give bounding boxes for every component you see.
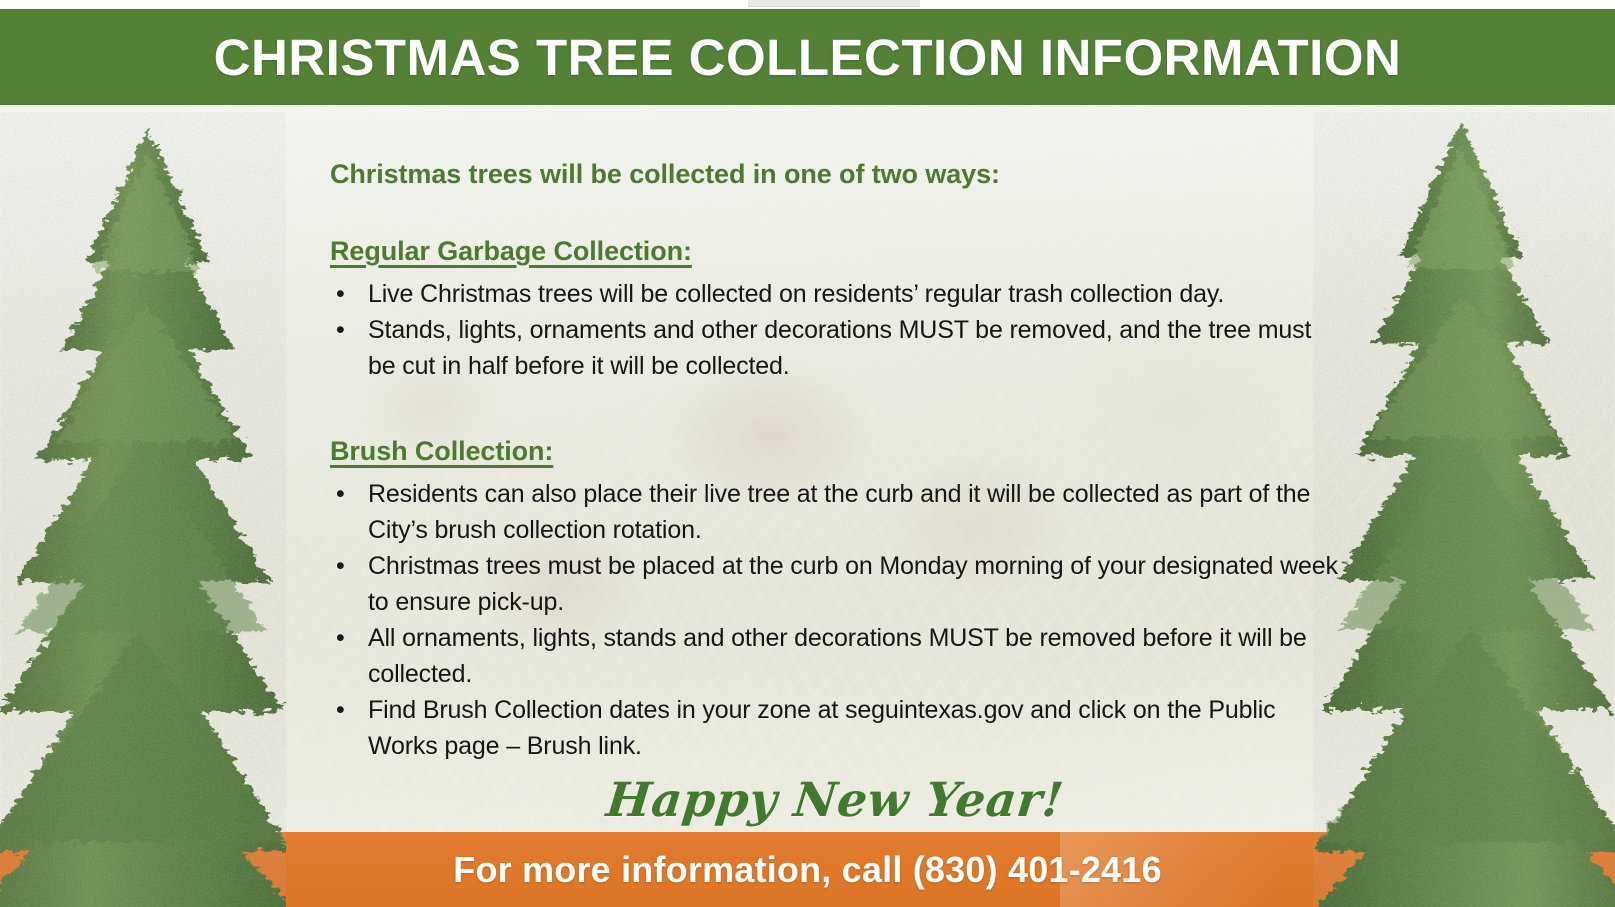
bullet-list-brush-collection: • Residents can also place their live tr… (330, 476, 1340, 764)
bullet-dot-icon: • (336, 620, 345, 656)
list-item: • Stands, lights, ornaments and other de… (330, 312, 1340, 384)
list-item: • All ornaments, lights, stands and othe… (330, 620, 1340, 692)
list-item: • Christmas trees must be placed at the … (330, 548, 1340, 620)
top-strip (0, 0, 1615, 9)
section-heading-regular-garbage: Regular Garbage Collection: (330, 236, 692, 267)
bullet-dot-icon: • (336, 312, 345, 348)
section-brush-collection: Brush Collection: • Residents can also p… (330, 436, 1340, 764)
list-item-text: All ornaments, lights, stands and other … (368, 624, 1307, 688)
bullet-dot-icon: • (336, 548, 345, 584)
top-strip-chip (748, 0, 920, 7)
list-item-text: Find Brush Collection dates in your zone… (368, 696, 1276, 760)
flyer-page: Christmas trees will be collected in one… (0, 0, 1615, 907)
list-item-text: Live Christmas trees will be collected o… (368, 280, 1224, 308)
bullet-dot-icon: • (336, 692, 345, 728)
list-item-text: Stands, lights, ornaments and other deco… (368, 316, 1311, 380)
list-item: • Live Christmas trees will be collected… (330, 276, 1340, 312)
greeting-happy-new-year: Happy New Year! (327, 776, 1342, 825)
list-item: • Residents can also place their live tr… (330, 476, 1340, 548)
bullet-dot-icon: • (336, 276, 345, 312)
bullet-list-regular-garbage: • Live Christmas trees will be collected… (330, 276, 1340, 384)
content-column: Christmas trees will be collected in one… (330, 120, 1340, 825)
list-item: • Find Brush Collection dates in your zo… (330, 692, 1340, 764)
lead-statement: Christmas trees will be collected in one… (330, 158, 1340, 192)
page-title: CHRISTMAS TREE COLLECTION INFORMATION (214, 32, 1402, 83)
header-band: CHRISTMAS TREE COLLECTION INFORMATION (0, 9, 1615, 105)
section-heading-brush-collection: Brush Collection: (330, 436, 553, 467)
footer-sheen (1060, 832, 1380, 907)
list-item-text: Christmas trees must be placed at the cu… (368, 552, 1338, 616)
bullet-dot-icon: • (336, 476, 345, 512)
list-item-text: Residents can also place their live tree… (368, 480, 1310, 544)
footer-band (0, 832, 1615, 907)
section-regular-garbage: Regular Garbage Collection: • Live Chris… (330, 236, 1340, 384)
